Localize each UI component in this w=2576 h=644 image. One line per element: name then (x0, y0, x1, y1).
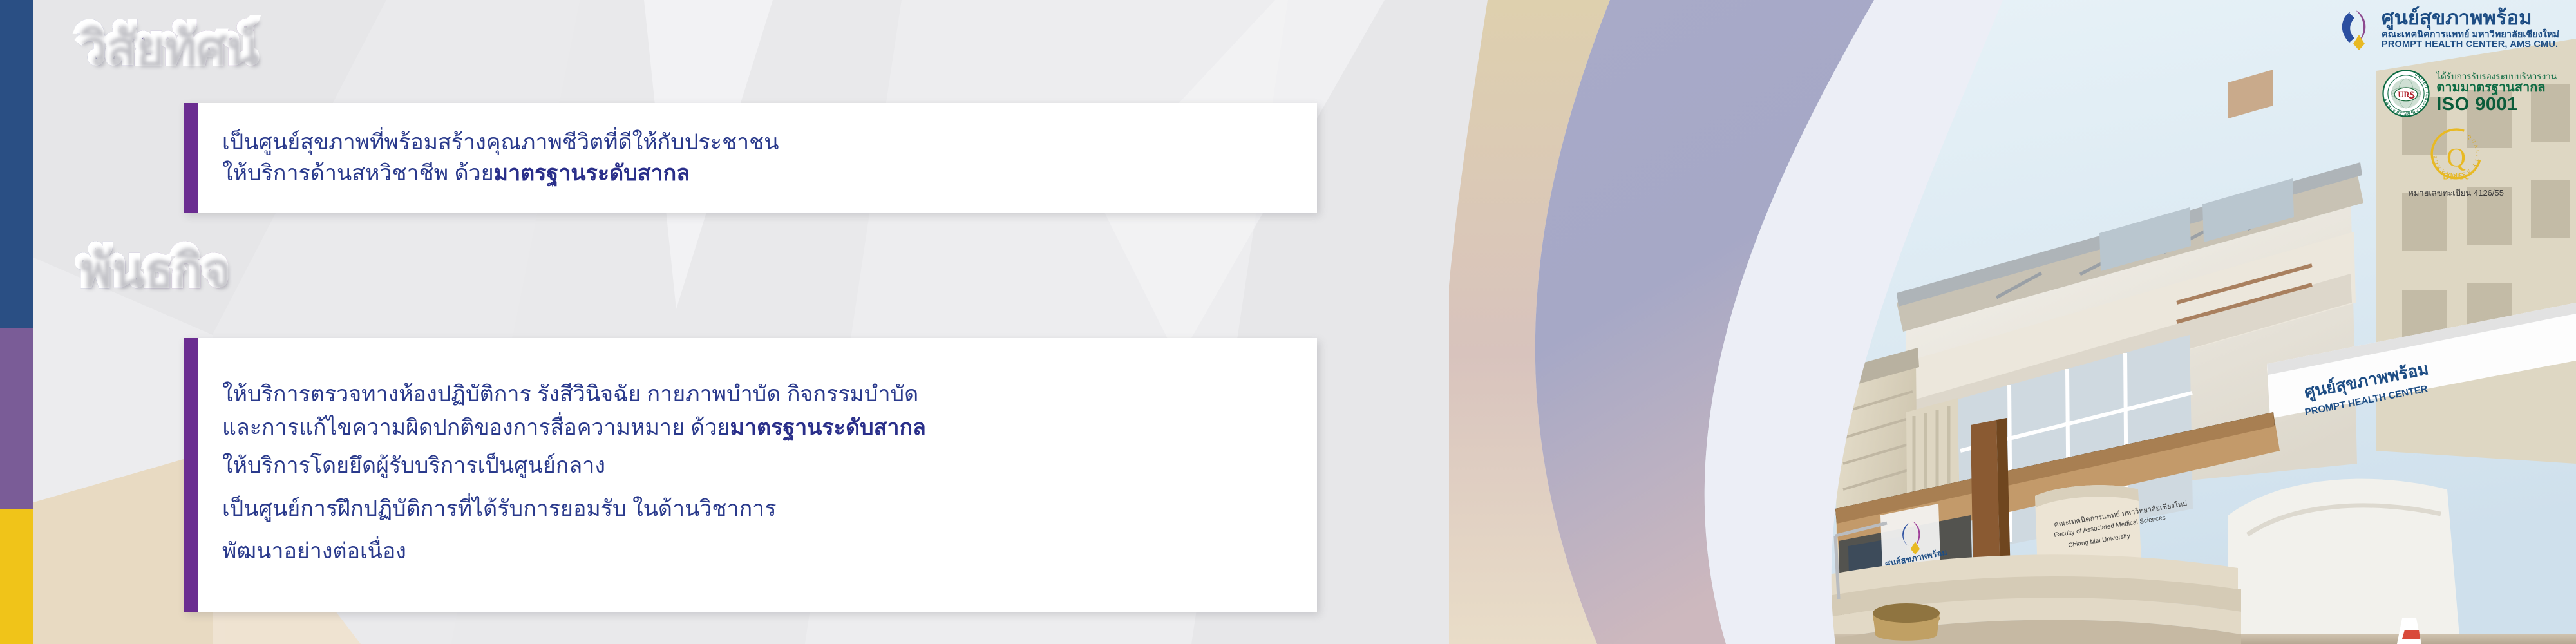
dmsc-quality-assurance-seal-icon: QUALITY ASSURANCE Q DMSc (2429, 126, 2484, 182)
vision-line-2-bold: มาตรฐานระดับสากล (494, 161, 690, 185)
urs-globe-seal-icon: URS UNITED REGISTRAR OF SYSTEMS ISO 9001 (2382, 70, 2430, 117)
edge-bar-navy (0, 0, 33, 328)
mission-line-4-text: เป็นศูนย์การฝึกปฏิบัติการที่ได้รับการยอม… (222, 497, 777, 521)
logo-subtitle-en: PROMPT HEALTH CENTER, AMS CMU. (2382, 40, 2559, 50)
mission-line-1: ให้บริการตรวจทางห้องปฏิบัติการ รังสีวินิ… (222, 379, 1295, 410)
mission-line-4: เป็นศูนย์การฝึกปฏิบัติการที่ได้รับการยอม… (222, 493, 1295, 524)
mission-line-2-bold: มาตรฐานระดับสากล (730, 415, 925, 440)
mission-heading: พันธกิจ (77, 229, 228, 306)
edge-bar-purple (0, 328, 33, 509)
mission-card: ให้บริการตรวจทางห้องปฏิบัติการ รังสีวินิ… (184, 338, 1317, 612)
prompt-health-logo: ศูนย์สุขภาพพร้อม คณะเทคนิคการแพทย์ มหาวิ… (2335, 8, 2559, 50)
mission-line-3-text: ให้บริการโดยยึดผู้รับบริการเป็นศูนย์กลาง (222, 453, 605, 478)
iso-text-block: ได้รับการรับรองระบบบริหารงาน ตามมาตรฐานส… (2436, 72, 2557, 115)
iso-line-1: ได้รับการรับรองระบบบริหารงาน (2436, 72, 2557, 81)
mission-heading-text: พันธกิจ (77, 240, 228, 295)
vision-heading: วิสัยทัศน์ (77, 6, 256, 84)
prompt-health-diamond-logo-icon (2335, 8, 2375, 50)
logo-title: ศูนย์สุขภาพพร้อม (2382, 8, 2559, 29)
vision-card-body: เป็นศูนย์สุขภาพที่พร้อมสร้างคุณภาพชีวิตท… (198, 103, 1317, 213)
svg-text:DMSc: DMSc (2443, 172, 2470, 182)
svg-text:Q: Q (2447, 142, 2466, 172)
mission-card-body: ให้บริการตรวจทางห้องปฏิบัติการ รังสีวินิ… (198, 338, 1317, 612)
vision-heading-text: วิสัยทัศน์ (77, 18, 256, 73)
iso-line-3: ISO 9001 (2436, 95, 2518, 114)
vision-line-1-text: เป็นศูนย์สุขภาพที่พร้อมสร้างคุณภาพชีวิตท… (222, 130, 779, 155)
logo-text-block: ศูนย์สุขภาพพร้อม คณะเทคนิคการแพทย์ มหาวิ… (2382, 8, 2559, 50)
mission-card-accent (184, 338, 198, 612)
content-column: วิสัยทัศน์ เป็นศูนย์สุขภาพที่พร้อมสร้างค… (0, 0, 1352, 644)
edge-bar-gold (0, 509, 33, 644)
vision-card: เป็นศูนย์สุขภาพที่พร้อมสร้างคุณภาพชีวิตท… (184, 103, 1317, 213)
vision-line-2-text: ให้บริการด้านสหวิชาชีพ ด้วย (222, 161, 494, 185)
mission-line-2-text: และการแก้ไขความผิดปกติของการสื่อความหมาย… (222, 415, 730, 440)
dmsc-q-badge: QUALITY ASSURANCE Q DMSc หมายเลขทะเบียน … (2408, 126, 2504, 200)
vision-line-2: ให้บริการด้านสหวิชาชีพ ด้วยมาตรฐานระดับส… (222, 158, 1295, 189)
mission-line-5-text: พัฒนาอย่างต่อเนื่อง (222, 539, 406, 563)
vision-mission-banner: ศูนย์สุขภาพพร้อม PROMPT HEALTH CENTER (0, 0, 2576, 644)
edge-color-bars (0, 0, 33, 644)
mission-line-2: และการแก้ไขความผิดปกติของการสื่อความหมาย… (222, 412, 1295, 443)
dmsc-registration-number: หมายเลขทะเบียน 4126/55 (2408, 186, 2504, 200)
mission-line-3: ให้บริการโดยยึดผู้รับบริการเป็นศูนย์กลาง (222, 450, 1295, 481)
mission-line-1-text: ให้บริการตรวจทางห้องปฏิบัติการ รังสีวินิ… (222, 382, 918, 406)
svg-text:ISO 9001: ISO 9001 (2398, 111, 2415, 115)
logo-subtitle-th: คณะเทคนิคการแพทย์ มหาวิทยาลัยเชียงใหม่ (2382, 30, 2559, 40)
iso-line-2: ตามมาตรฐานสากล (2436, 81, 2545, 95)
iso-9001-badge: URS UNITED REGISTRAR OF SYSTEMS ISO 9001… (2382, 70, 2557, 117)
vision-line-1: เป็นศูนย์สุขภาพที่พร้อมสร้างคุณภาพชีวิตท… (222, 127, 1295, 158)
mission-line-5: พัฒนาอย่างต่อเนื่อง (222, 536, 1295, 567)
vision-card-accent (184, 103, 198, 213)
